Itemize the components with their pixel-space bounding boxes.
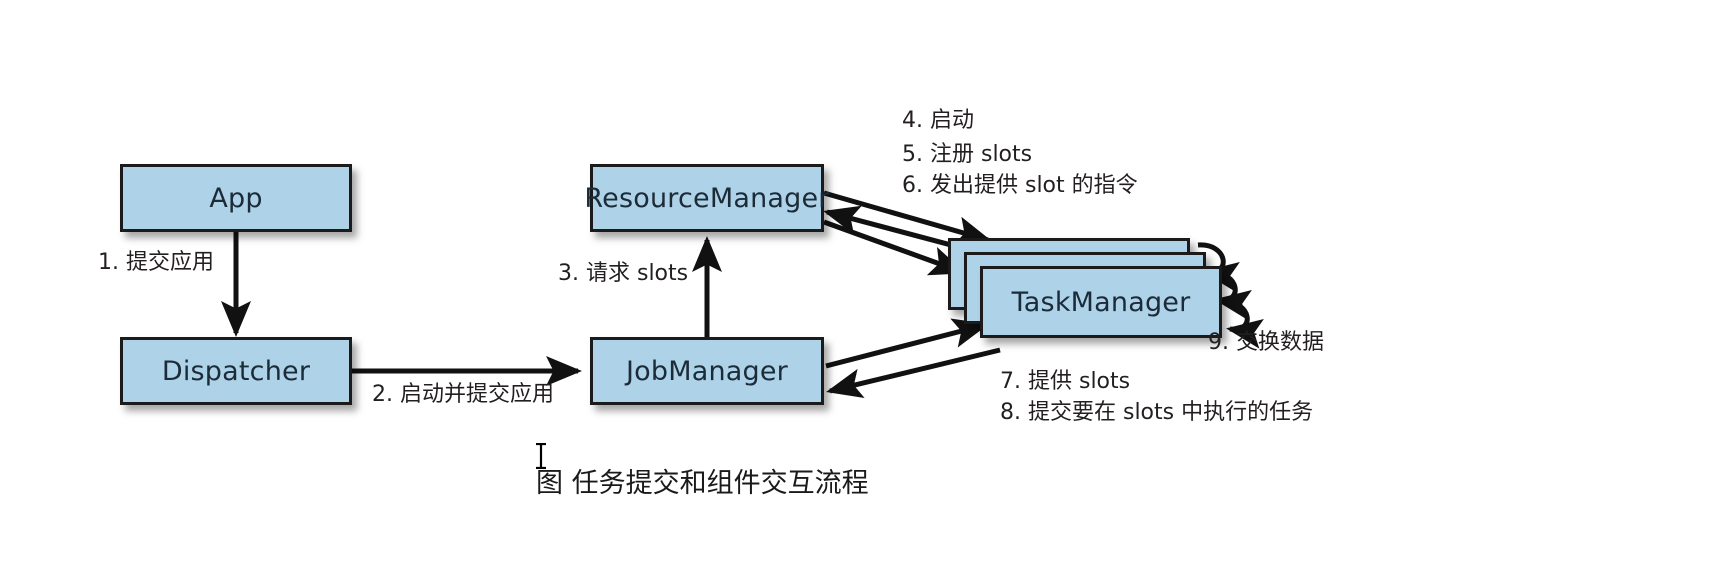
diagram-canvas: App Dispatcher ResourceManager JobManage… [0,0,1722,587]
node-dispatcher[interactable]: Dispatcher [120,337,352,405]
edge-label-step6: 6. 发出提供 slot 的指令 [902,170,1138,202]
edge-label-step5: 5. 注册 slots [902,139,1032,171]
node-app-label: App [209,183,262,214]
node-taskmanager-label: TaskManager [1012,287,1191,318]
edge-label-step2: 2. 启动并提交应用 [372,379,554,411]
node-jobmanager-label: JobManager [626,356,788,387]
edge-label-step4: 4. 启动 [902,105,974,137]
node-jobmanager[interactable]: JobManager [590,337,824,405]
edge-label-step9: 9. 交换数据 [1208,327,1324,359]
edge-label-step7: 7. 提供 slots [1000,366,1130,398]
node-resourcemanager-label: ResourceManager [584,183,829,214]
taskmanager-stack: TaskManager [948,238,1228,338]
edge-label-step3: 3. 请求 slots [558,258,688,290]
node-dispatcher-label: Dispatcher [162,356,310,387]
node-resourcemanager[interactable]: ResourceManager [590,164,824,232]
node-taskmanager-front[interactable]: TaskManager [980,266,1222,338]
edge-label-step8: 8. 提交要在 slots 中执行的任务 [1000,397,1313,429]
edge-label-step1: 1. 提交应用 [98,247,214,279]
figure-caption: 图 任务提交和组件交互流程 [536,461,869,500]
node-app[interactable]: App [120,164,352,232]
